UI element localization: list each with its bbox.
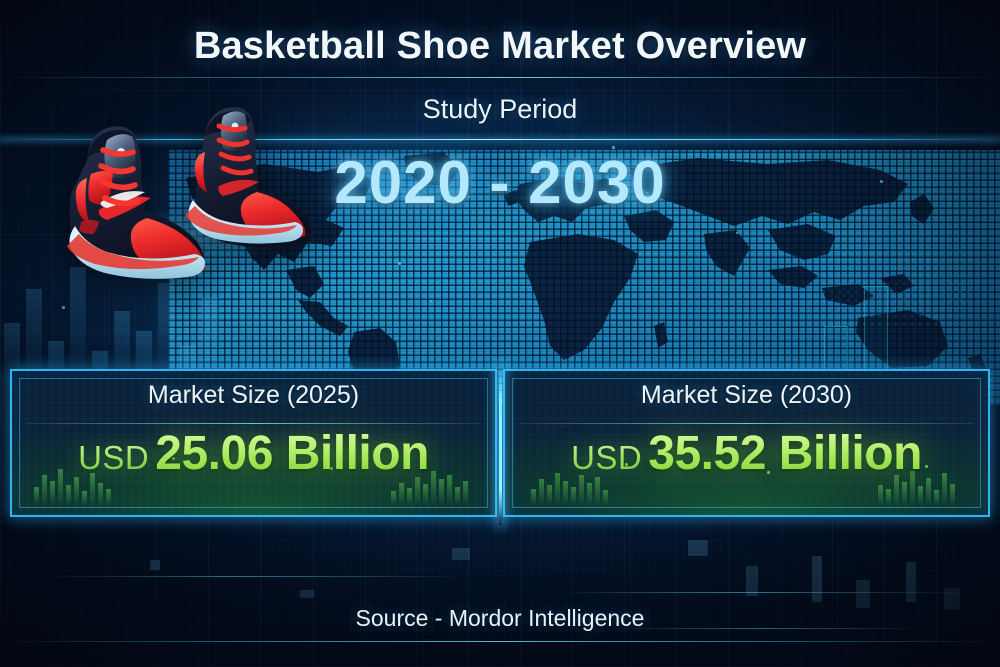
basketball-shoes-illustration [55, 82, 325, 282]
market-size-card-2030[interactable]: Market Size (2030) USD35.52 Billion [503, 369, 990, 517]
background-streak [40, 576, 460, 577]
title-divider [0, 77, 1000, 78]
cards-vertical-divider [499, 363, 502, 525]
card-currency: USD [571, 439, 642, 476]
background-streak [560, 592, 980, 593]
card-amount: 35.52 Billion [648, 427, 922, 480]
background-dot-matrix [820, 248, 970, 328]
card-amount: 25.06 Billion [155, 427, 429, 480]
card-currency: USD [78, 439, 149, 476]
page-title: Basketball Shoe Market Overview [0, 25, 1000, 68]
source-attribution: Source - Mordor Intelligence [0, 605, 1000, 632]
market-size-card-2025[interactable]: Market Size (2025) USD25.06 Billion [10, 369, 497, 517]
infographic-canvas: Basketball Shoe Market Overview Study Pe… [0, 0, 1000, 667]
card-label: Market Size (2025) [12, 381, 495, 410]
footer-divider [0, 641, 1000, 642]
card-label: Market Size (2030) [505, 381, 988, 410]
card-divider-line [519, 423, 974, 424]
card-value: USD35.52 Billion [505, 426, 988, 481]
card-divider-line [26, 423, 481, 424]
card-value: USD25.06 Billion [12, 426, 495, 481]
